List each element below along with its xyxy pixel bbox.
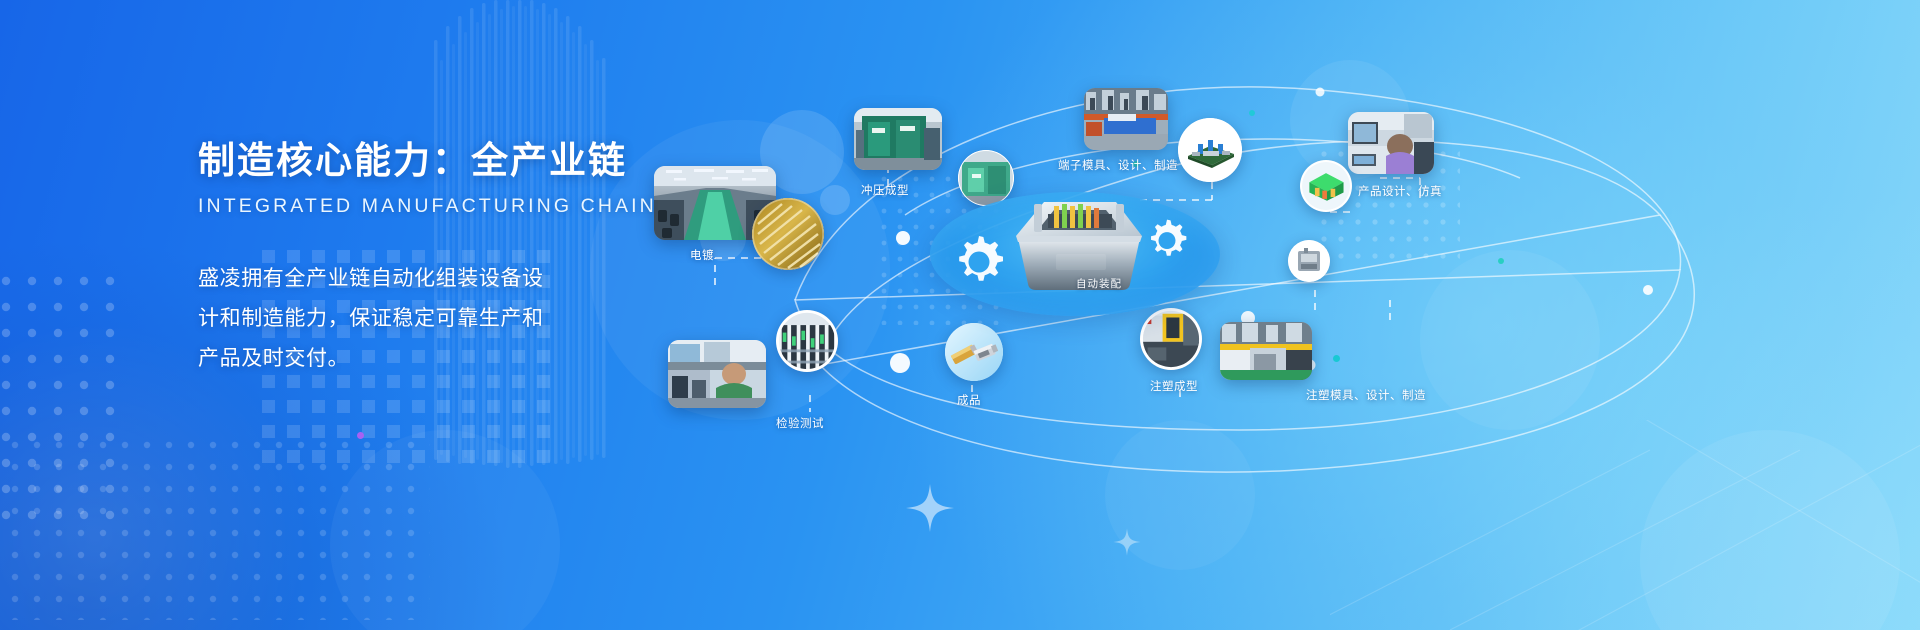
node-image-product-design[interactable] — [1348, 112, 1434, 174]
node-label-product-design: 产品设计、仿真 — [1358, 183, 1442, 199]
node-image-terminal-mold[interactable] — [1084, 88, 1168, 150]
node-label-inspection-test: 检验测试 — [776, 415, 824, 431]
node-icon-injection-machine[interactable] — [1140, 308, 1202, 370]
gear-icon — [948, 234, 1010, 296]
node-icon-gold-terminal-strip[interactable] — [752, 198, 824, 270]
node-image-inspection-test[interactable] — [668, 340, 766, 408]
center-label-automation: 自动装配 — [1076, 276, 1122, 291]
stamping-machine-photo — [854, 108, 942, 170]
gold-terminal-strip-icon — [752, 198, 824, 270]
node-icon-finished-goods[interactable] — [945, 323, 1003, 381]
soft-glow-circle — [330, 430, 560, 630]
accent-dot — [357, 432, 364, 439]
green-mold-3d-icon — [1302, 162, 1350, 210]
central-stage: 自动装配 — [930, 192, 1220, 316]
test-fixture-icon — [778, 312, 836, 370]
bottom-dot-grid — [10, 440, 430, 620]
body-line: 计和制造能力，保证稳定可靠生产和 — [198, 299, 618, 339]
page-title: 制造核心能力：全产业链 — [198, 140, 618, 183]
node-icon-mold-assembly[interactable] — [1178, 118, 1242, 182]
mold-assembly-icon — [1178, 118, 1242, 182]
inspection-lab-photo — [668, 340, 766, 408]
node-image-injection-mold[interactable] — [1220, 322, 1312, 380]
node-label-terminal-mold: 端子模具、设计、制造 — [1058, 157, 1178, 173]
body-line: 产品及时交付。 — [198, 339, 618, 379]
node-icon-test-fixture[interactable] — [776, 310, 838, 372]
page-subtitle: INTEGRATED MANUFACTURING CHAIN — [198, 195, 618, 218]
node-label-injection-form: 注塑成型 — [1150, 378, 1198, 394]
body-line: 盛凌拥有全产业链自动化组装设备设 — [198, 259, 618, 299]
headline-block: 制造核心能力：全产业链 INTEGRATED MANUFACTURING CHA… — [198, 140, 618, 379]
node-label-injection-mold: 注塑模具、设计、制造 — [1306, 387, 1426, 403]
node-label-finished-goods: 成品 — [957, 392, 981, 408]
designer-desk-photo — [1348, 112, 1434, 174]
node-label-stamping: 冲压成型 — [861, 182, 909, 198]
gray-mold-icon — [1288, 240, 1330, 282]
manufacturing-chain-banner: 制造核心能力：全产业链 INTEGRATED MANUFACTURING CHA… — [0, 0, 1920, 630]
node-image-stamping[interactable] — [854, 108, 942, 170]
manufacturing-chain-diagram: 电镀 — [620, 0, 1920, 630]
body-paragraph: 盛凌拥有全产业链自动化组装设备设 计和制造能力，保证稳定可靠生产和 产品及时交付… — [198, 259, 618, 379]
injection-mold-photo — [1220, 322, 1312, 380]
node-icon-green-mold[interactable] — [1300, 160, 1352, 212]
round-dot-grid — [0, 275, 130, 525]
injection-machine-photo — [1142, 310, 1200, 368]
mold-workshop-photo — [1084, 88, 1168, 150]
node-label-electroplating: 电镀 — [690, 247, 714, 263]
connector-parts-icon — [945, 323, 1003, 381]
node-icon-gray-mold[interactable] — [1288, 240, 1330, 282]
